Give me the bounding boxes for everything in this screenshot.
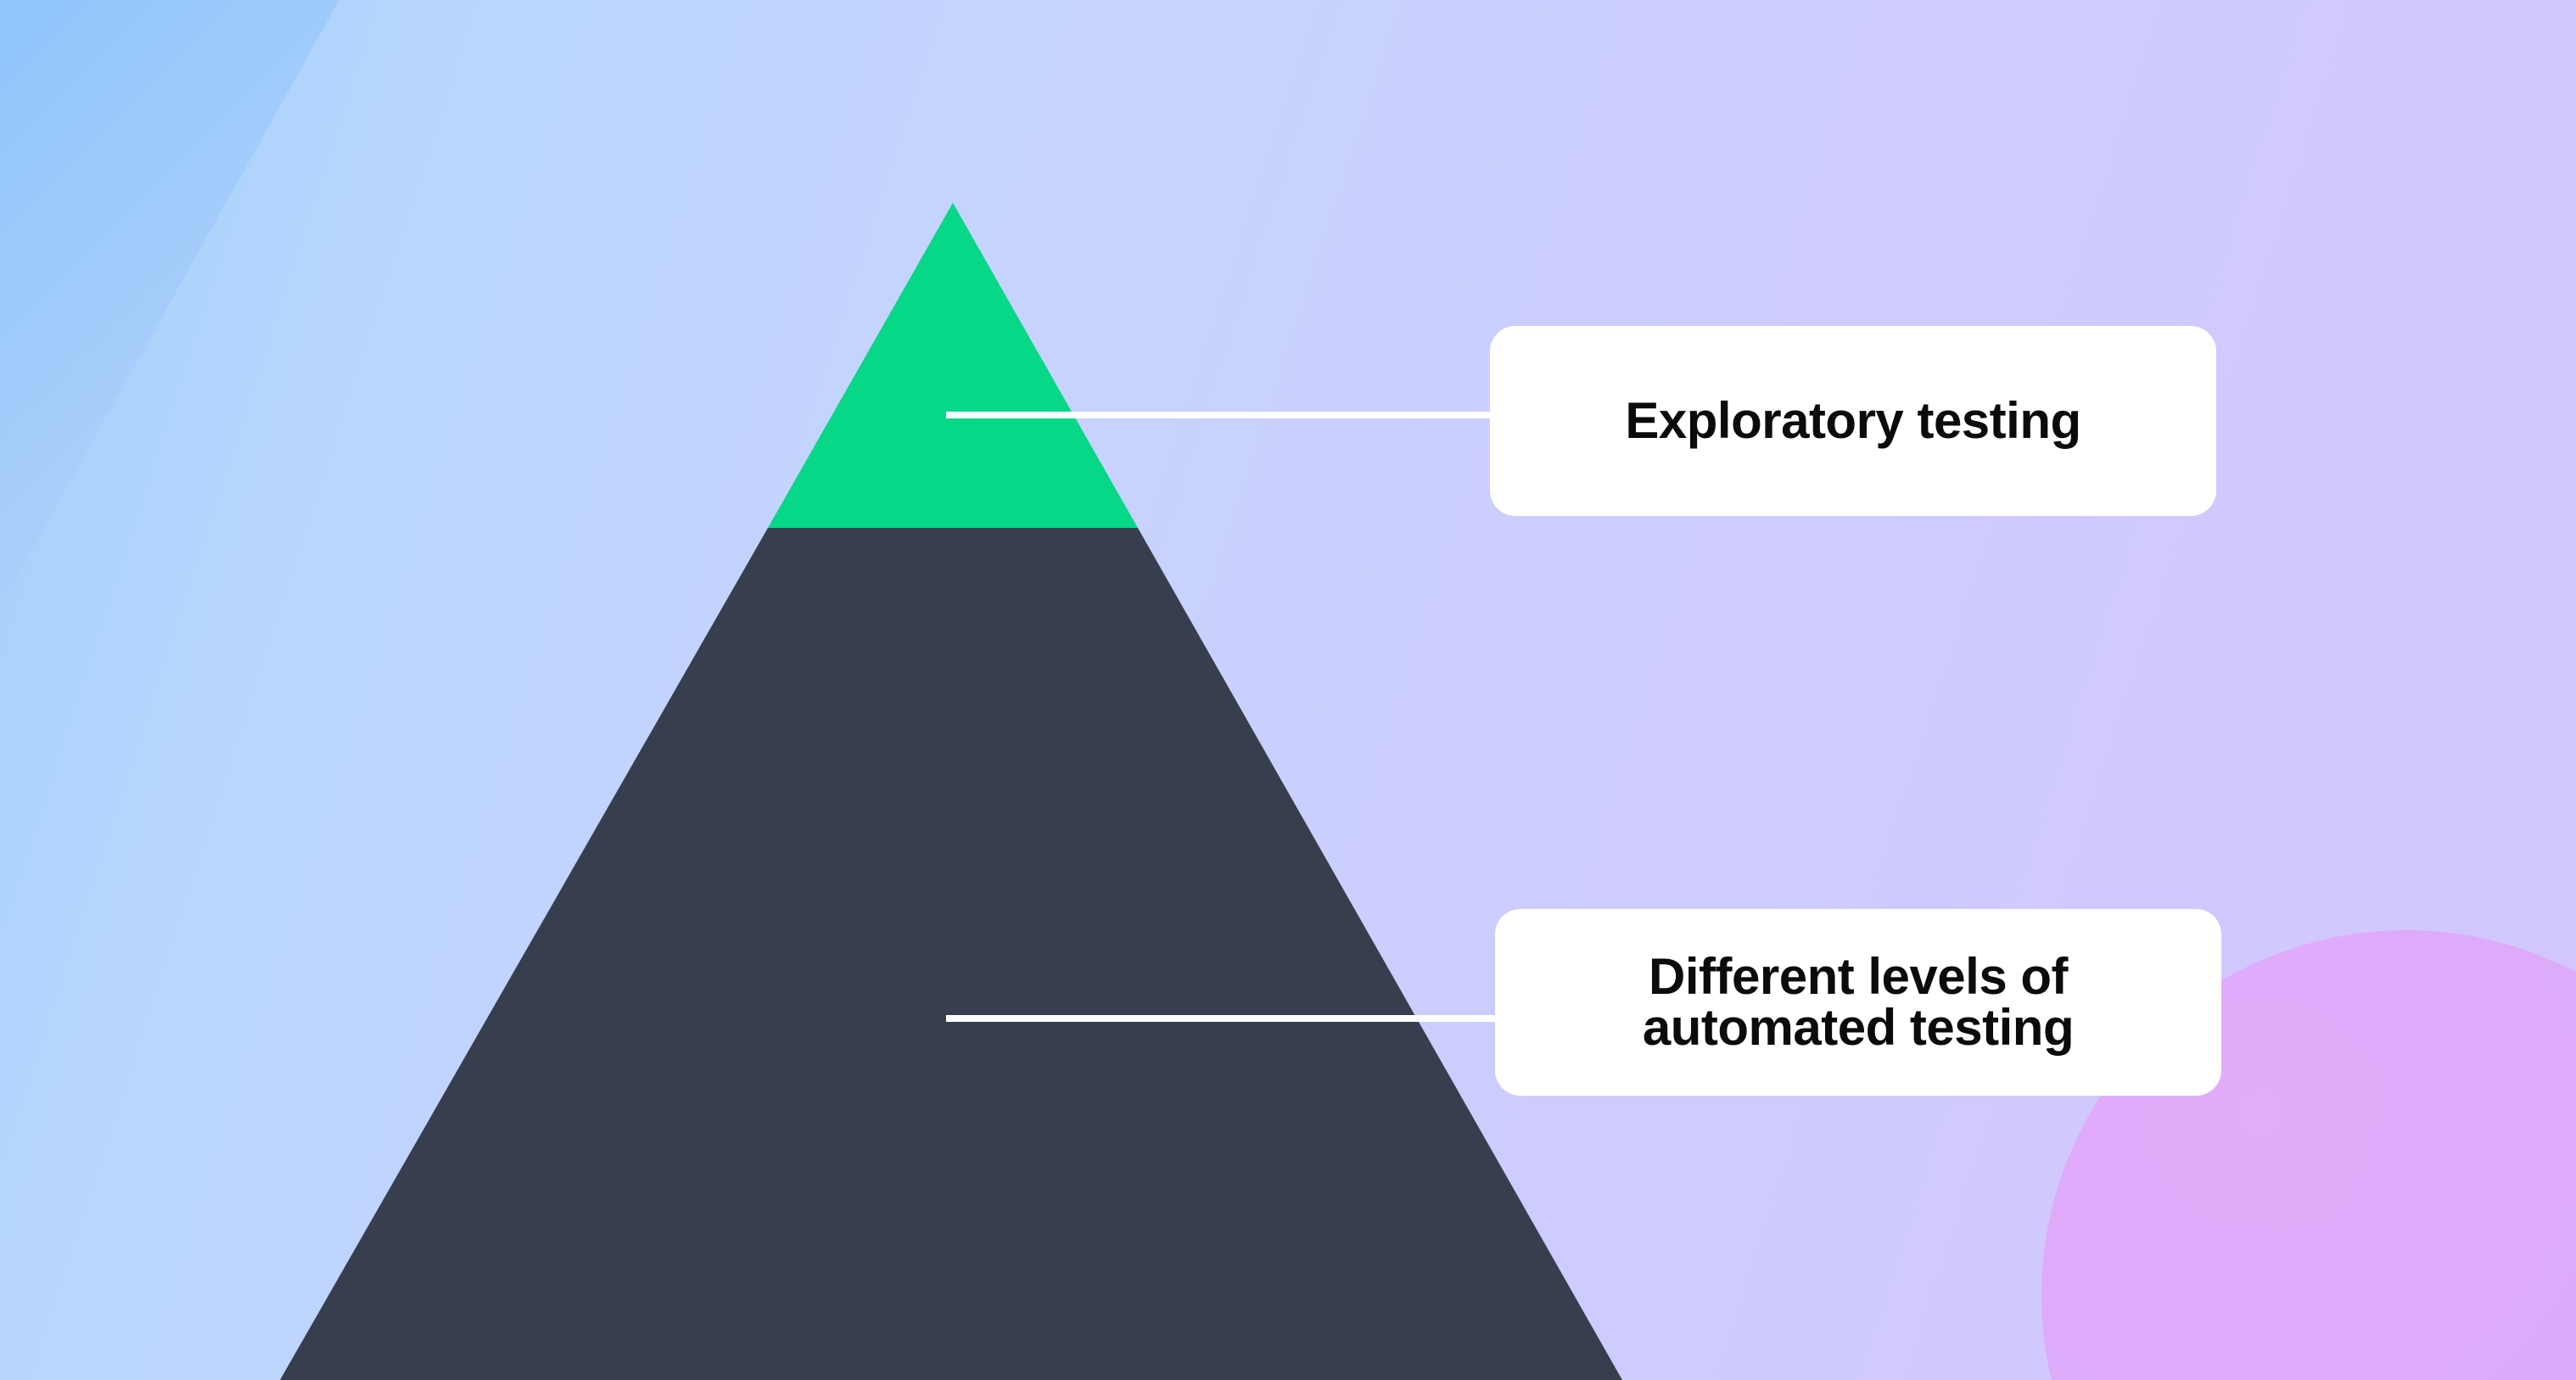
pyramid-segment-base xyxy=(280,528,1622,1380)
testing-pyramid xyxy=(0,0,2576,1380)
slide-canvas: Exploratory testing Different levels of … xyxy=(0,0,2576,1380)
callout-label-automated: Different levels of automated testing xyxy=(1617,951,2099,1053)
connector-line-exploratory xyxy=(946,412,1506,418)
callout-card-exploratory[interactable]: Exploratory testing xyxy=(1490,326,2216,516)
pyramid-segment-top xyxy=(768,203,1138,528)
callout-label-exploratory: Exploratory testing xyxy=(1599,395,2106,446)
callout-card-automated[interactable]: Different levels of automated testing xyxy=(1495,909,2221,1096)
connector-line-automated xyxy=(946,1015,1510,1022)
